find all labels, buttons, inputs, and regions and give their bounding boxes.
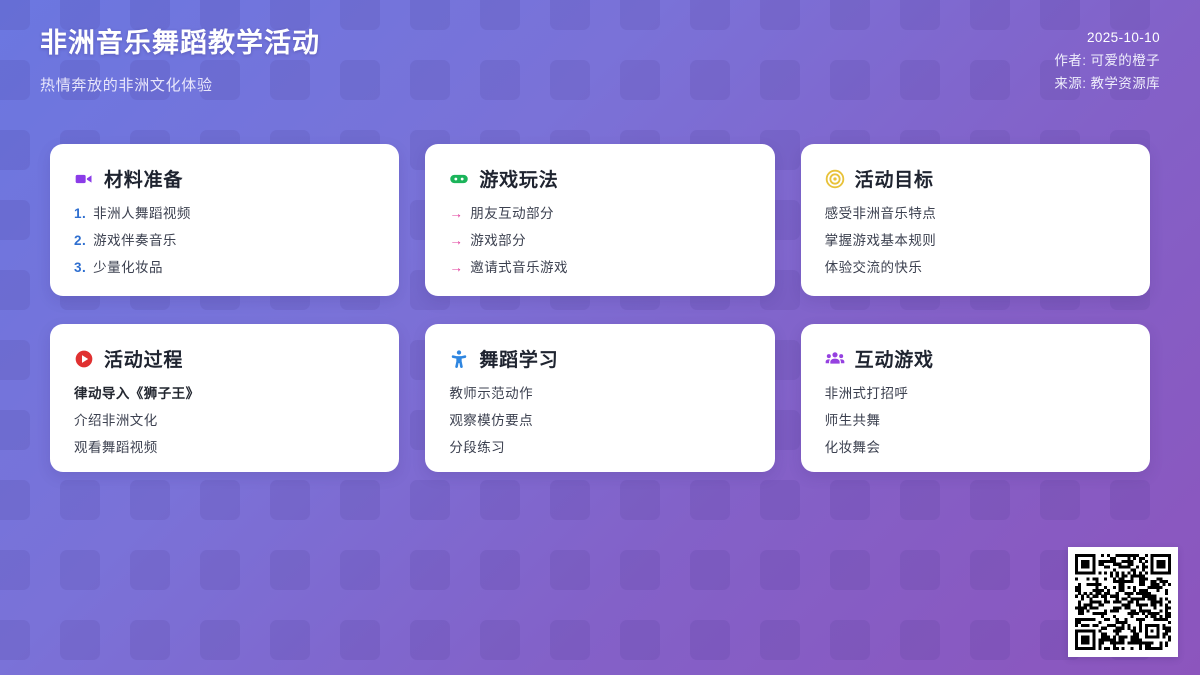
list-item-label: 朋友互动部分: [470, 205, 554, 223]
metadata-block: 2025-10-10 作者: 可爱的橙子 来源: 教学资源库: [1054, 26, 1160, 96]
qr-code-image: [1075, 554, 1171, 650]
card-header: 活动目标: [825, 165, 1126, 192]
list-item: 感受非洲音乐特点: [825, 205, 1126, 223]
list-number: 3.: [74, 259, 86, 277]
card-3: 活动目标感受非洲音乐特点掌握游戏基本规则体验交流的快乐: [801, 144, 1150, 296]
list-item: →游戏部分: [449, 232, 750, 250]
list-item-label: 观察模仿要点: [449, 412, 533, 430]
list-item-label: 感受非洲音乐特点: [825, 205, 937, 223]
list-item-label: 少量化妆品: [93, 259, 163, 277]
list-item: 观察模仿要点: [449, 412, 750, 430]
list-item-label: 非洲式打招呼: [825, 385, 909, 403]
page-title: 非洲音乐舞蹈教学活动: [40, 26, 320, 61]
list-item: 律动导入《狮子王》: [74, 385, 375, 403]
list-item: 介绍非洲文化: [74, 412, 375, 430]
list-item-label: 教师示范动作: [449, 385, 533, 403]
card-body: 非洲式打招呼师生共舞化妆舞会: [825, 385, 1126, 458]
poster-root: 非洲音乐舞蹈教学活动 热情奔放的非洲文化体验 2025-10-10 作者: 可爱…: [0, 0, 1200, 675]
list-item-label: 化妆舞会: [825, 439, 881, 457]
card-2: 游戏玩法→朋友互动部分→游戏部分→邀请式音乐游戏: [425, 144, 774, 296]
list-item: 化妆舞会: [825, 439, 1126, 457]
card-body: 感受非洲音乐特点掌握游戏基本规则体验交流的快乐: [825, 205, 1126, 278]
list-number: 1.: [74, 205, 86, 223]
card-header: 材料准备: [74, 165, 375, 192]
gamepad-icon: [449, 169, 469, 189]
list-item-label: 观看舞蹈视频: [74, 439, 158, 457]
list-item: 分段练习: [449, 439, 750, 457]
poster-header: 非洲音乐舞蹈教学活动 热情奔放的非洲文化体验 2025-10-10 作者: 可爱…: [0, 0, 1200, 130]
list-item: 3.少量化妆品: [74, 259, 375, 277]
list-item: →邀请式音乐游戏: [449, 259, 750, 277]
arrow-bullet-icon: →: [449, 205, 463, 223]
arrow-bullet-icon: →: [449, 259, 463, 277]
card-title: 材料准备: [104, 165, 183, 192]
list-item: 教师示范动作: [449, 385, 750, 403]
list-item: 1.非洲人舞蹈视频: [74, 205, 375, 223]
list-item-label: 非洲人舞蹈视频: [93, 205, 191, 223]
card-5: 舞蹈学习教师示范动作观察模仿要点分段练习: [425, 324, 774, 472]
list-item: 非洲式打招呼: [825, 385, 1126, 403]
list-item: 体验交流的快乐: [825, 259, 1126, 277]
list-item: 师生共舞: [825, 412, 1126, 430]
card-4: 活动过程律动导入《狮子王》介绍非洲文化观看舞蹈视频: [50, 324, 399, 472]
list-number: 2.: [74, 232, 86, 250]
list-item-label: 游戏部分: [470, 232, 526, 250]
card-body: →朋友互动部分→游戏部分→邀请式音乐游戏: [449, 205, 750, 278]
cards-grid: 材料准备1.非洲人舞蹈视频2.游戏伴奏音乐3.少量化妆品游戏玩法→朋友互动部分→…: [50, 144, 1150, 472]
video-camera-icon: [74, 169, 94, 189]
list-item-label: 游戏伴奏音乐: [93, 232, 177, 250]
card-body: 教师示范动作观察模仿要点分段练习: [449, 385, 750, 458]
card-title: 舞蹈学习: [479, 345, 558, 372]
list-item: 掌握游戏基本规则: [825, 232, 1126, 250]
list-item-label: 邀请式音乐游戏: [470, 259, 568, 277]
play-circle-icon: [74, 349, 94, 369]
author-text: 作者: 可爱的橙子: [1054, 49, 1160, 72]
page-subtitle: 热情奔放的非洲文化体验: [40, 74, 320, 95]
list-item-label: 掌握游戏基本规则: [825, 232, 937, 250]
card-title: 游戏玩法: [479, 165, 558, 192]
card-body: 1.非洲人舞蹈视频2.游戏伴奏音乐3.少量化妆品: [74, 205, 375, 278]
list-item: →朋友互动部分: [449, 205, 750, 223]
arrow-bullet-icon: →: [449, 232, 463, 250]
dancing-person-icon: [449, 349, 469, 369]
list-item-label: 体验交流的快乐: [825, 259, 923, 277]
card-body: 律动导入《狮子王》介绍非洲文化观看舞蹈视频: [74, 385, 375, 458]
card-title: 活动过程: [104, 345, 183, 372]
list-item-label: 介绍非洲文化: [74, 412, 158, 430]
card-header: 游戏玩法: [449, 165, 750, 192]
card-6: 互动游戏非洲式打招呼师生共舞化妆舞会: [801, 324, 1150, 472]
qr-code[interactable]: [1068, 547, 1178, 657]
card-title: 活动目标: [855, 165, 934, 192]
card-header: 舞蹈学习: [449, 345, 750, 372]
list-item: 观看舞蹈视频: [74, 439, 375, 457]
title-block: 非洲音乐舞蹈教学活动 热情奔放的非洲文化体验: [40, 26, 320, 95]
card-header: 互动游戏: [825, 345, 1126, 372]
people-group-icon: [825, 349, 845, 369]
list-item-label: 分段练习: [449, 439, 505, 457]
date-text: 2025-10-10: [1054, 26, 1160, 49]
card-1: 材料准备1.非洲人舞蹈视频2.游戏伴奏音乐3.少量化妆品: [50, 144, 399, 296]
card-header: 活动过程: [74, 345, 375, 372]
target-icon: [825, 169, 845, 189]
list-item: 2.游戏伴奏音乐: [74, 232, 375, 250]
card-title: 互动游戏: [855, 345, 934, 372]
list-item-label: 师生共舞: [825, 412, 881, 430]
source-text: 来源: 教学资源库: [1054, 72, 1160, 95]
list-item-label: 律动导入《狮子王》: [74, 385, 200, 403]
